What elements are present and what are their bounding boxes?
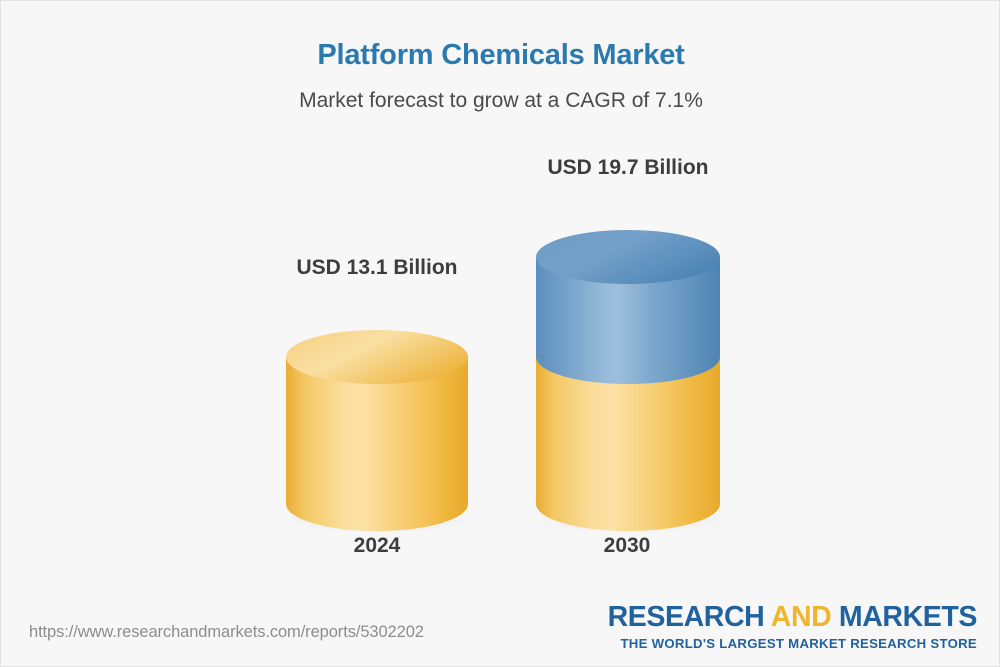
infographic-canvas: Platform Chemicals Market Market forecas… xyxy=(0,0,1000,667)
bar-category-label-2030: 2030 xyxy=(476,534,778,558)
research-and-markets-logo[interactable]: RESEARCH AND MARKETS THE WORLD'S LARGEST… xyxy=(608,603,977,651)
bar-value-label-2030: USD 19.7 Billion xyxy=(477,156,779,180)
cylinder-top-2030 xyxy=(536,230,720,284)
cylinder-2024 xyxy=(270,294,486,524)
logo-word-markets: MARKETS xyxy=(839,601,977,633)
cylinder-top-2024 xyxy=(286,330,468,384)
cylinder-2030 xyxy=(520,194,738,524)
logo-word-research: RESEARCH xyxy=(608,601,765,633)
logo-wordmark: RESEARCH AND MARKETS xyxy=(608,603,977,632)
logo-word-and: AND xyxy=(771,601,832,633)
logo-tagline: THE WORLD'S LARGEST MARKET RESEARCH STOR… xyxy=(608,636,977,651)
chart-plot-area: USD 13.1 Billion xyxy=(1,1,1000,601)
bar-value-label-2024: USD 13.1 Billion xyxy=(226,256,528,280)
source-url[interactable]: https://www.researchandmarkets.com/repor… xyxy=(29,623,424,642)
